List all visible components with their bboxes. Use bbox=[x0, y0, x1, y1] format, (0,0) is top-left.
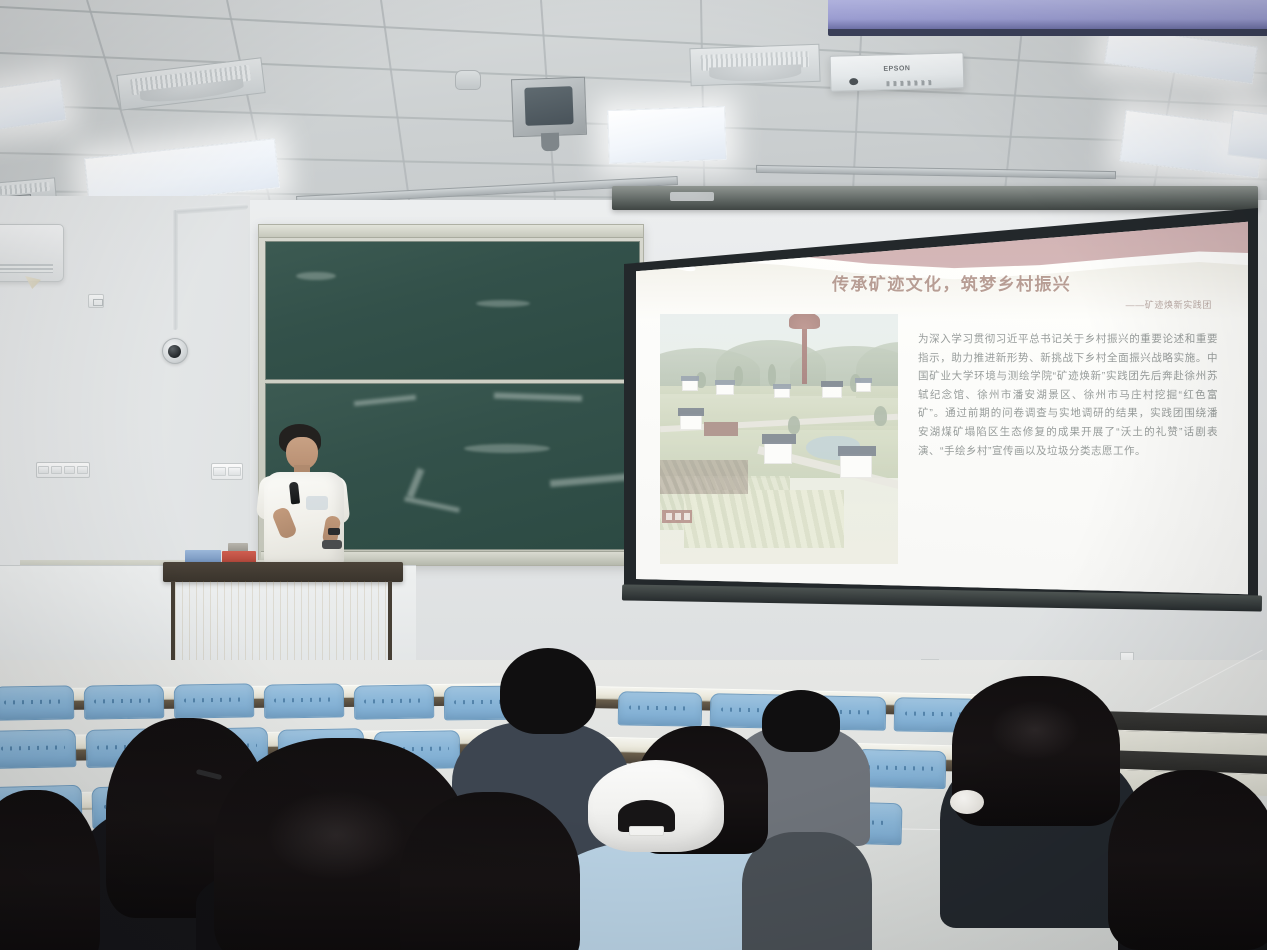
projector-lens-icon bbox=[850, 78, 859, 85]
upper-display-screen bbox=[828, 0, 1267, 36]
auditorium-seat[interactable] bbox=[0, 685, 74, 720]
slide-illustration-banner bbox=[662, 510, 692, 523]
slide-subtitle: ——矿迹焕新实践团 bbox=[966, 298, 1212, 311]
lectern-top bbox=[163, 562, 403, 582]
projector-brand-label: EPSON bbox=[883, 65, 910, 73]
wall-outlet[interactable] bbox=[88, 294, 104, 308]
classroom-photo-scene: EPSON bbox=[0, 0, 1267, 950]
chalkboard-panel-upper bbox=[265, 241, 640, 380]
light-switch-panel[interactable] bbox=[211, 463, 243, 480]
light-switch-panel[interactable] bbox=[36, 462, 90, 478]
audience-person-hair bbox=[1108, 770, 1267, 950]
presenter-clicker bbox=[322, 540, 342, 549]
slide-body-text: 为深入学习贯彻习近平总书记关于乡村振兴的重要论述和重要指示，助力推进新形势、新挑… bbox=[918, 330, 1218, 460]
hvac-vent bbox=[689, 44, 820, 87]
auditorium-seat[interactable] bbox=[354, 684, 435, 719]
auditorium-seat[interactable] bbox=[84, 684, 165, 719]
ceiling-speaker bbox=[511, 77, 587, 138]
projection-screen-surface: 传承矿迹文化，筑梦乡村振兴 ——矿迹焕新实践团 bbox=[636, 218, 1248, 598]
security-camera-icon bbox=[162, 338, 188, 364]
slide-illustration: 乡村振兴插画 bbox=[660, 314, 898, 564]
ceiling-panel-light bbox=[607, 106, 727, 164]
smoke-detector-icon bbox=[455, 70, 481, 90]
presenter-shirt-graphic bbox=[306, 496, 328, 510]
ceiling-panel-light bbox=[0, 78, 67, 131]
hvac-vent bbox=[116, 57, 265, 111]
auditorium-seat[interactable] bbox=[0, 729, 76, 769]
conduit-pipe bbox=[172, 210, 178, 330]
presenter-watch bbox=[328, 528, 340, 535]
projection-screen-case[interactable] bbox=[612, 186, 1258, 210]
auditorium-seat[interactable] bbox=[618, 691, 703, 726]
audience-person-head bbox=[762, 690, 840, 752]
audience-person bbox=[742, 832, 872, 950]
audience-person-head bbox=[500, 648, 596, 734]
chalkboard-top-rail bbox=[259, 225, 643, 238]
presenter bbox=[256, 424, 354, 570]
ceiling-projector: EPSON bbox=[830, 52, 965, 91]
baseball-cap bbox=[588, 760, 724, 852]
slide-title: 传承矿迹文化，筑梦乡村振兴 bbox=[832, 270, 1204, 295]
ceiling-panel-light bbox=[1227, 109, 1267, 160]
projection-screen-assembly: 传承矿迹文化，筑梦乡村振兴 ——矿迹焕新实践团 bbox=[612, 186, 1267, 618]
audience-person-hair bbox=[400, 792, 580, 950]
hair-scrunchie bbox=[950, 790, 984, 814]
auditorium-seat[interactable] bbox=[174, 683, 255, 718]
air-conditioner-unit bbox=[0, 224, 64, 282]
presentation-slide: 传承矿迹文化，筑梦乡村振兴 ——矿迹焕新实践团 bbox=[636, 218, 1248, 598]
ceiling-rail bbox=[756, 165, 1116, 179]
auditorium-seat[interactable] bbox=[264, 683, 345, 718]
projector-vent bbox=[887, 80, 932, 86]
